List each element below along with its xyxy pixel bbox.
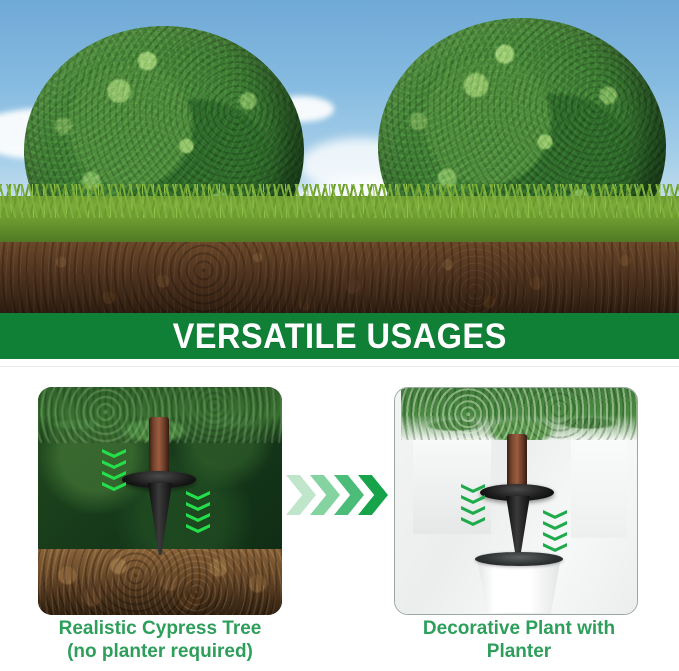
chevron-down-icon <box>102 449 126 471</box>
chevron-down-icon <box>461 506 485 528</box>
panel-right-foliage <box>401 387 638 440</box>
chevron-down-icon <box>461 484 485 506</box>
chevron-right-1 <box>286 475 316 515</box>
panel-left-soil <box>38 549 282 615</box>
caption-left-line1: Realistic Cypress Tree <box>59 618 262 639</box>
section-banner: VERSATILE USAGES <box>0 313 679 359</box>
chevron-down-icon <box>543 510 567 532</box>
hero-image <box>0 0 679 313</box>
chevrons-right-icon <box>286 473 392 517</box>
caption-right-line2: Planter <box>369 640 669 663</box>
chevron-down-icon <box>186 491 210 513</box>
chevron-down-icon <box>102 471 126 493</box>
use-case-panel-left[interactable] <box>38 387 282 615</box>
product-feature-image: VERSATILE USAGES <box>0 0 679 671</box>
grass-layer <box>0 196 679 248</box>
caption-left-line2: (no planter required) <box>10 640 310 663</box>
tree-trunk <box>149 417 169 479</box>
comparison-section: Realistic Cypress Tree (no planter requi… <box>0 367 679 671</box>
banner-title: VERSATILE USAGES <box>172 319 506 354</box>
planter-shadow <box>465 612 573 615</box>
planter-rim <box>475 552 563 566</box>
chevron-down-icon <box>543 532 567 554</box>
chevron-down-icon <box>186 513 210 535</box>
caption-right: Decorative Plant with Planter <box>369 617 669 663</box>
soil-cross-section <box>0 242 679 313</box>
caption-left: Realistic Cypress Tree (no planter requi… <box>10 617 310 663</box>
use-case-panel-right[interactable] <box>394 387 638 615</box>
caption-right-line1: Decorative Plant with <box>423 618 615 639</box>
